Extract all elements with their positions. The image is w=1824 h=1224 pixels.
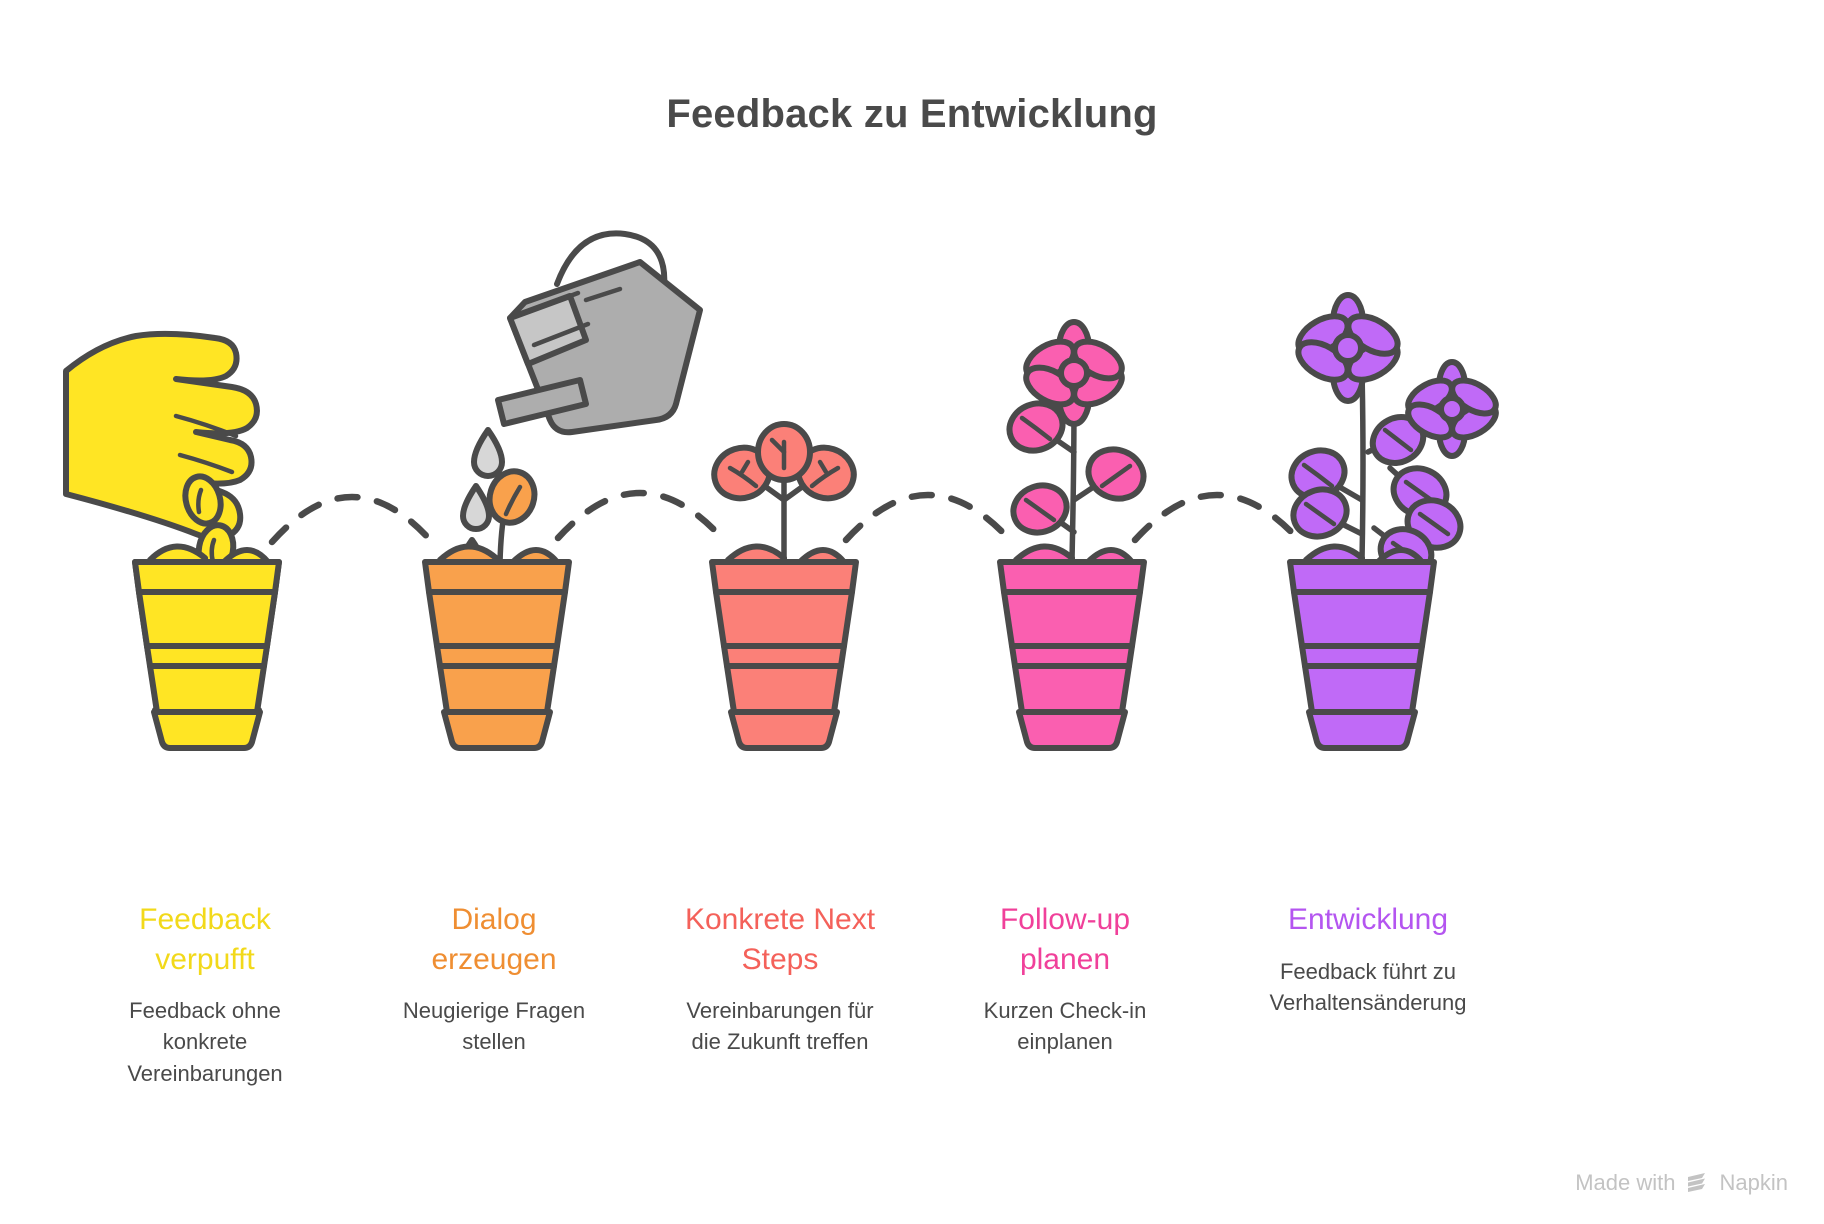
seed	[195, 522, 237, 575]
leaf	[1287, 482, 1353, 544]
leaf	[1081, 441, 1151, 506]
pot-with-flower-icon	[1000, 562, 1144, 748]
soil-mound	[440, 546, 557, 566]
page-title: Feedback zu Entwicklung	[0, 92, 1824, 137]
leaf	[1365, 408, 1432, 471]
step-3-illustration	[708, 424, 861, 748]
step-heading: Feedback verpufft	[80, 900, 330, 979]
water-drops	[461, 430, 502, 576]
seed-group	[180, 472, 237, 575]
step-caption-entwicklung: Entwicklung Feedback führt zu Verhaltens…	[1237, 900, 1499, 1018]
step-body: Vereinbarungen für die Zukunft treffen	[655, 995, 905, 1057]
soil-mound	[728, 546, 844, 566]
soil-mound	[1016, 546, 1132, 566]
water-drop	[461, 540, 483, 576]
step-heading: Entwicklung	[1237, 900, 1499, 940]
pot-with-seedling-icon	[712, 562, 856, 748]
seedling-icon	[708, 424, 861, 560]
water-drop	[463, 486, 489, 529]
step-5-illustration	[1284, 295, 1501, 748]
flower-icon	[1403, 362, 1502, 456]
soil-mound	[1306, 546, 1422, 566]
hand-dropping-seeds-icon	[66, 334, 257, 539]
leaf	[1373, 521, 1439, 583]
napkin-brand-label: Napkin	[1720, 1170, 1788, 1196]
leaf	[1386, 460, 1454, 524]
connector-arc-1	[272, 497, 432, 542]
step-2-illustration	[425, 233, 700, 748]
made-with-napkin-watermark[interactable]: Made with Napkin	[1575, 1170, 1788, 1196]
pot-with-seeds-icon	[135, 562, 279, 748]
leaf	[1284, 443, 1351, 506]
sprout-icon	[483, 465, 541, 562]
step-caption-follow-up-planen: Follow-up planen Kurzen Check-in einplan…	[940, 900, 1190, 1058]
step-body: Kurzen Check-in einplanen	[940, 995, 1190, 1057]
watering-can-icon	[498, 233, 700, 432]
step-4-illustration	[1000, 322, 1151, 748]
blooming-plant-icon	[1284, 295, 1501, 583]
connector-arcs	[272, 493, 1299, 542]
pot-with-sprout-icon	[425, 562, 569, 748]
step-caption-dialog-erzeugen: Dialog erzeugen Neugierige Fragen stelle…	[369, 900, 619, 1058]
step-body: Neugierige Fragen stellen	[369, 995, 619, 1057]
step-body: Feedback führt zu Verhaltensänderung	[1237, 956, 1499, 1018]
soil-mound	[150, 546, 268, 566]
connector-arc-2	[558, 493, 722, 538]
pot-with-blooms-icon	[1290, 562, 1434, 748]
flower-icon	[1292, 295, 1404, 401]
infographic-canvas: Feedback zu Entwicklung .ol { stroke:#4a…	[0, 0, 1824, 1224]
step-heading: Konkrete Next Steps	[655, 900, 905, 979]
leaf	[1007, 478, 1073, 540]
water-drop	[474, 430, 502, 476]
flowering-plant-icon	[1002, 322, 1151, 560]
bud	[758, 424, 810, 480]
connector-arc-4	[1135, 495, 1299, 540]
seed	[180, 472, 226, 528]
made-with-label: Made with	[1575, 1170, 1675, 1196]
flower-icon	[1020, 322, 1128, 424]
step-heading: Dialog erzeugen	[369, 900, 619, 979]
step-1-illustration	[66, 334, 279, 748]
step-caption-konkrete-next-steps: Konkrete Next Steps Vereinbarungen für d…	[655, 900, 905, 1058]
leaf	[708, 441, 777, 506]
step-heading: Follow-up planen	[940, 900, 1190, 979]
leaf	[792, 441, 861, 506]
napkin-logo-icon	[1685, 1170, 1711, 1196]
leaf	[1002, 396, 1069, 459]
leaf	[1400, 492, 1468, 556]
step-caption-feedback-verpufft: Feedback verpufft Feedback ohne konkrete…	[80, 900, 330, 1089]
connector-arc-3	[846, 495, 1010, 540]
step-body: Feedback ohne konkrete Vereinbarungen	[80, 995, 330, 1089]
